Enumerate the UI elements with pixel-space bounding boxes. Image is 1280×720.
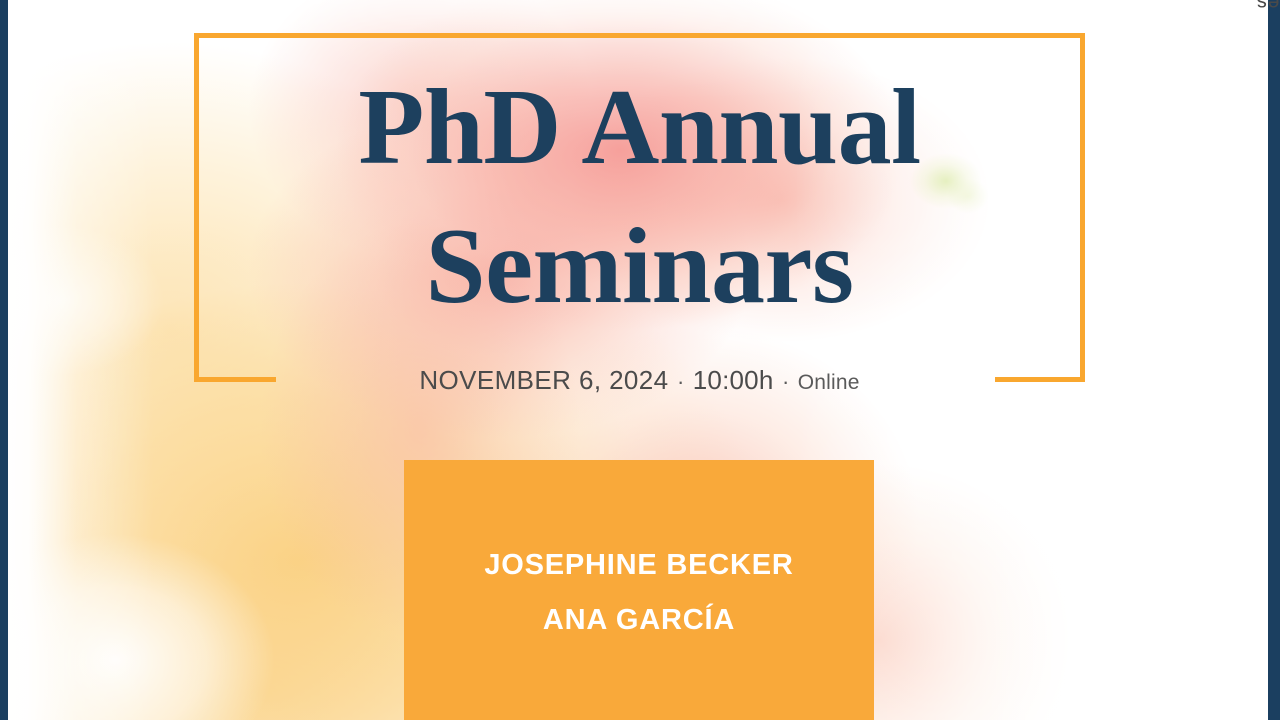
speaker-name-1: JOSEPHINE BECKER [404,538,874,593]
meta-separator-1: · [673,369,688,394]
event-mode: Online [798,371,860,394]
title-line-1: PhD Annual [194,58,1085,197]
event-date: NOVEMBER 6, 2024 [419,365,668,395]
meta-separator-2: · [778,369,793,394]
right-navy-rail [1268,0,1280,720]
left-navy-rail [0,0,8,720]
poster-title: PhD Annual Seminars [194,58,1085,337]
event-poster: PhD Annual Seminars NOVEMBER 6, 2024 · 1… [0,0,1280,720]
title-line-2: Seminars [194,197,1085,336]
speakers-panel: JOSEPHINE BECKER ANA GARCÍA [404,460,874,720]
event-meta-line: NOVEMBER 6, 2024 · 10:00h · Online [194,365,1085,396]
speaker-name-2: ANA GARCÍA [404,593,874,648]
speaker-list: JOSEPHINE BECKER ANA GARCÍA [404,538,874,648]
frame-top-bar [194,33,1085,38]
website-url-vertical[interactable]: postgrowth-lab.uvigo.es [1256,0,1280,14]
event-time: 10:00h [693,365,774,395]
